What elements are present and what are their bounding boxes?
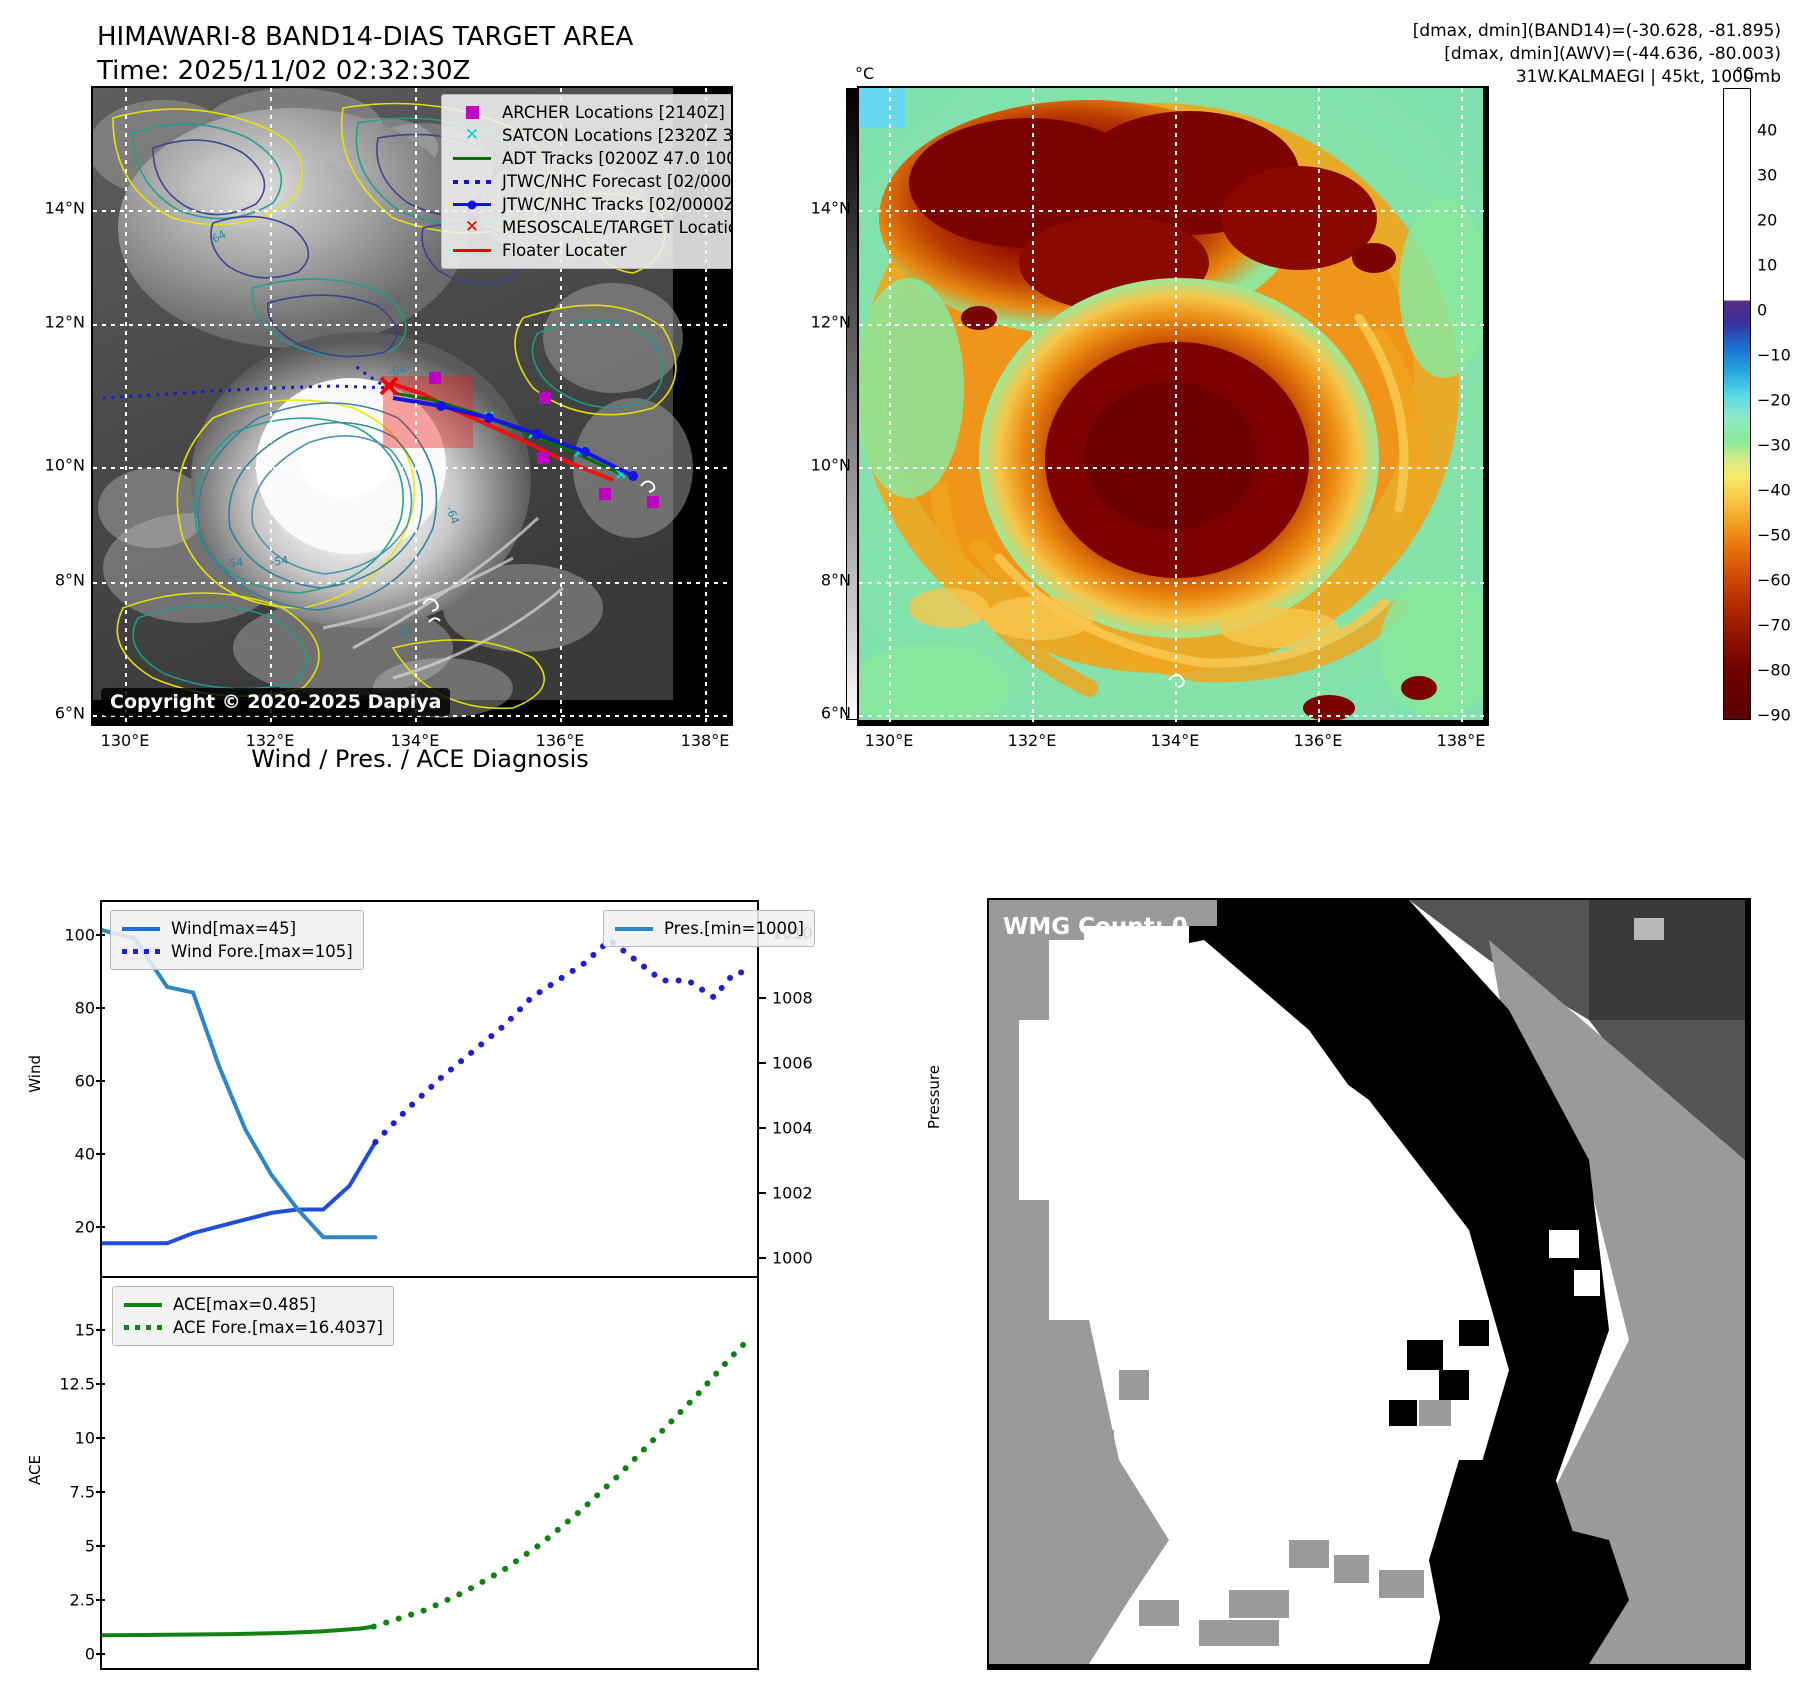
ace-axis-label: ACE (26, 1455, 44, 1485)
colorbar-right-tick: 30 (1757, 166, 1777, 185)
legend-label: ACE Fore.[max=16.4037] (173, 1318, 383, 1337)
dotted-line-swatch-icon (452, 174, 492, 190)
ace-ytick-mark (96, 1491, 105, 1493)
pressure-ytick: 1006 (772, 1054, 813, 1073)
wind-legend[interactable]: Wind[max=45] Wind Fore.[max=105] (110, 910, 364, 970)
map-gridline-v (270, 88, 272, 724)
wind-ytick-mark (96, 1007, 105, 1009)
colorbar-right-tick: 10 (1757, 256, 1777, 275)
stat-band14-range: [dmax, dmin](BAND14)=(-30.628, -81.895) (1413, 20, 1781, 43)
legend-label: MESOSCALE/TARGET Location (502, 218, 733, 237)
map-left-ytick: 14°N (30, 199, 85, 218)
wind-axis-label: Wind (26, 1055, 44, 1093)
ace-ytick: 2.5 (40, 1591, 95, 1610)
map-image-enhanced-ir (859, 88, 1487, 724)
legend-item-ace[interactable]: ACE[max=0.485] (123, 1293, 383, 1316)
legend-label: ACE[max=0.485] (173, 1295, 316, 1314)
wind-ytick: 60 (55, 1072, 95, 1091)
ace-ytick: 10 (40, 1429, 95, 1448)
line-swatch-icon (452, 151, 492, 167)
map-legend[interactable]: ARCHER Locations [2140Z] ✕ SATCON Locati… (441, 94, 733, 269)
line-with-marker-icon (452, 197, 492, 213)
map-right-xtick: 132°E (1008, 731, 1057, 750)
map-gridline-h (93, 324, 731, 326)
colorbar-right-tick: −20 (1757, 391, 1791, 410)
ace-ytick-mark (96, 1329, 105, 1331)
map-gridline-v (1461, 88, 1463, 724)
map-panel-enhanced-ir[interactable] (857, 86, 1489, 726)
square-marker-icon (452, 105, 492, 121)
map-gridline-v (1318, 88, 1320, 724)
legend-label: ARCHER Locations [2140Z] (502, 103, 725, 122)
enhanced-ir-satellite-image (859, 88, 1483, 720)
legend-item-pressure[interactable]: Pres.[min=1000] (614, 917, 804, 940)
colorbar-right-tick: −60 (1757, 571, 1791, 590)
dotted-line-swatch-icon (123, 1320, 163, 1336)
title-line-1: HIMAWARI-8 BAND14-DIAS TARGET AREA (97, 22, 633, 52)
ace-ytick: 7.5 (40, 1483, 95, 1502)
legend-label: JTWC/NHC Tracks [02/0000Z] (502, 195, 733, 214)
legend-item-mesoscale-target[interactable]: ✕ MESOSCALE/TARGET Location (452, 216, 733, 239)
line-swatch-icon (121, 921, 161, 937)
legend-item-jtwc-tracks[interactable]: JTWC/NHC Tracks [02/0000Z] (452, 193, 733, 216)
stat-awv-range: [dmax, dmin](AWV)=(-44.636, -80.003) (1413, 43, 1781, 66)
map-right-ytick: 8°N (796, 571, 851, 590)
series-Pres.[min=1000] (102, 930, 375, 1237)
wmg-classification-image (989, 900, 1745, 1664)
ace-ytick-mark (96, 1437, 105, 1439)
map-gridline-v (125, 88, 127, 724)
legend-item-floater-locater[interactable]: Floater Locater (452, 239, 733, 262)
colorbar-right-tick: 40 (1757, 121, 1777, 140)
wind-ytick-mark (96, 1226, 105, 1228)
pressure-ytick-mark (757, 1127, 766, 1129)
map-gridline-v (1032, 88, 1034, 724)
legend-item-jtwc-forecast[interactable]: JTWC/NHC Forecast [02/0000Z] (452, 170, 733, 193)
pressure-ytick: 1004 (772, 1119, 813, 1138)
map-gridline-v (889, 88, 891, 724)
line-swatch-icon (614, 921, 654, 937)
wind-ytick-mark (96, 1153, 105, 1155)
pressure-ytick-mark (757, 1257, 766, 1259)
pressure-axis-label: Pressure (925, 1065, 943, 1129)
colorbar-right-tick: 20 (1757, 211, 1777, 230)
x-marker-icon: ✕ (452, 220, 492, 236)
series-ACE[max=0.485] (102, 1627, 374, 1636)
ace-ytick: 0 (40, 1645, 95, 1664)
map-right-ytick: 12°N (796, 313, 851, 332)
ace-ytick-mark (96, 1599, 105, 1601)
wind-ytick: 80 (55, 999, 95, 1018)
legend-label: Wind[max=45] (171, 919, 296, 938)
map-right-ytick: 10°N (796, 456, 851, 475)
pressure-ytick-mark (757, 1062, 766, 1064)
map-panel-band14-grayscale[interactable]: -64 -64 -64 -54 -54 -31 (91, 86, 733, 726)
map-left-ytick: 8°N (30, 571, 85, 590)
map-left-ytick: 12°N (30, 313, 85, 332)
legend-item-adt-tracks[interactable]: ADT Tracks [0200Z 47.0 1002.9] (452, 147, 733, 170)
pressure-ytick: 1002 (772, 1184, 813, 1203)
pressure-ytick: 1008 (772, 989, 813, 1008)
map-right-ytick: 6°N (796, 704, 851, 723)
ace-legend[interactable]: ACE[max=0.485] ACE Fore.[max=16.4037] (112, 1286, 394, 1346)
colorbar-left-unit: °C (855, 64, 874, 83)
map-gridline-h (859, 582, 1487, 584)
map-gridline-h (859, 324, 1487, 326)
colorbar-right[interactable] (1723, 88, 1751, 720)
dotted-line-swatch-icon (121, 944, 161, 960)
map-left-ytick: 6°N (30, 704, 85, 723)
ace-ytick-mark (96, 1653, 105, 1655)
line-swatch-icon (123, 1297, 163, 1313)
colorbar-right-tick: −90 (1757, 706, 1791, 725)
series-Wind[max=45] (102, 1142, 375, 1243)
legend-item-satcon[interactable]: ✕ SATCON Locations [2320Z 39 1003] (452, 124, 733, 147)
svg-text:-54: -54 (225, 556, 245, 571)
wmg-panel[interactable]: WMG Count: 0 (987, 898, 1751, 1670)
colorbar-right-tick: −40 (1757, 481, 1791, 500)
colorbar-right-tick: −80 (1757, 661, 1791, 680)
colorbar-right-tick: −50 (1757, 526, 1791, 545)
legend-item-archer[interactable]: ARCHER Locations [2140Z] (452, 101, 733, 124)
legend-label: Floater Locater (502, 241, 627, 260)
map-right-ytick: 14°N (796, 199, 851, 218)
wmg-count-label: WMG Count: 0 (1003, 914, 1188, 940)
map-gridline-h (859, 467, 1487, 469)
map-right-xtick: 138°E (1437, 731, 1486, 750)
ace-ytick-mark (96, 1545, 105, 1547)
map-gridline-v (1175, 88, 1177, 724)
wind-ytick-mark (96, 1080, 105, 1082)
legend-label: Pres.[min=1000] (664, 919, 804, 938)
wind-ytick: 100 (55, 926, 95, 945)
pressure-ytick: 1000 (772, 1249, 813, 1268)
map-right-xtick: 130°E (865, 731, 914, 750)
colorbar-right-tick: 0 (1757, 301, 1767, 320)
pressure-ytick-mark (757, 997, 766, 999)
ace-ytick: 15 (40, 1321, 95, 1340)
wind-ytick: 20 (55, 1218, 95, 1237)
map-gridline-h (93, 582, 731, 584)
x-marker-icon: ✕ (452, 128, 492, 144)
map-left-ytick: 10°N (30, 456, 85, 475)
legend-item-ace-forecast[interactable]: ACE Fore.[max=16.4037] (123, 1316, 383, 1339)
line-swatch-icon (452, 243, 492, 259)
legend-label: SATCON Locations [2320Z 39 1003] (502, 126, 733, 145)
series-Wind Fore.[max=105] (375, 940, 753, 1142)
scene-statistics: [dmax, dmin](BAND14)=(-30.628, -81.895) … (1413, 20, 1781, 89)
pressure-legend[interactable]: Pres.[min=1000] (603, 910, 815, 947)
colorbar-right-tick: −30 (1757, 436, 1791, 455)
series-ACE Fore.[max=16.4037] (374, 1339, 749, 1627)
legend-label: ADT Tracks [0200Z 47.0 1002.9] (502, 149, 733, 168)
ace-ytick: 12.5 (40, 1375, 95, 1394)
colorbar-right-tick: −10 (1757, 346, 1791, 365)
map-gridline-h (93, 467, 731, 469)
map-right-xtick: 134°E (1151, 731, 1200, 750)
diagnosis-title: Wind / Pres. / ACE Diagnosis (90, 745, 750, 773)
wind-ytick-mark (96, 934, 105, 936)
map-gridline-h (859, 210, 1487, 212)
map-gridline-h (859, 715, 1487, 717)
map-right-xtick: 136°E (1294, 731, 1343, 750)
svg-text:-54: -54 (270, 554, 290, 569)
page-title: HIMAWARI-8 BAND14-DIAS TARGET AREA Time:… (97, 20, 633, 88)
ace-ytick-mark (96, 1383, 105, 1385)
title-line-2: Time: 2025/11/02 02:32:30Z (97, 56, 470, 86)
map-gridline-v (415, 88, 417, 724)
copyright-label: Copyright © 2020-2025 Dapiya (101, 688, 450, 716)
colorbar-right-unit: °C (1735, 64, 1754, 83)
wind-ytick: 40 (55, 1145, 95, 1164)
legend-label: Wind Fore.[max=105] (171, 942, 353, 961)
ace-ytick: 5 (40, 1537, 95, 1556)
colorbar-right-tick: −70 (1757, 616, 1791, 635)
legend-item-wind-forecast[interactable]: Wind Fore.[max=105] (121, 940, 353, 963)
legend-label: JTWC/NHC Forecast [02/0000Z] (502, 172, 733, 191)
legend-item-wind[interactable]: Wind[max=45] (121, 917, 353, 940)
pressure-ytick-mark (757, 1192, 766, 1194)
